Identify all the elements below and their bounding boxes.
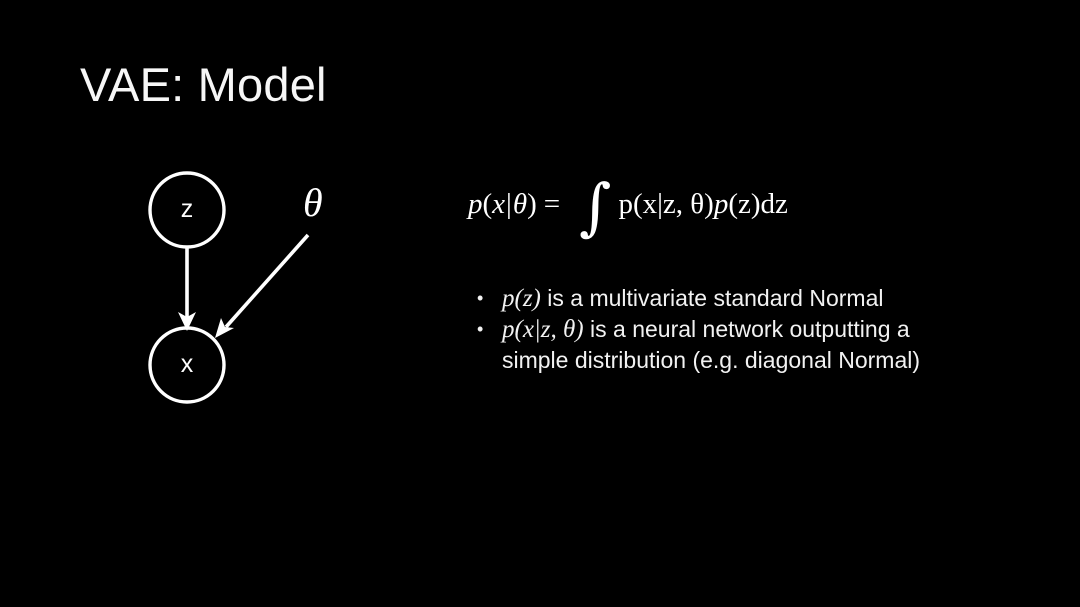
equation-rhs-prior-p: p [714, 190, 729, 219]
bullet-list: • p(z) is a multivariate standard Normal… [470, 283, 970, 376]
bullet-marker-icon: • [477, 283, 483, 314]
integral-icon: ∫ [579, 188, 611, 225]
graphical-model-diagram: z x θ [120, 155, 380, 425]
bullet-math-likelihood: p(x|z, θ) [502, 316, 584, 343]
equation-lhs-p: p [468, 190, 483, 219]
equation-rhs-differential: dz [761, 190, 788, 219]
model-equation: p(x|θ)=∫p(x|z, θ)p(z)dz [468, 186, 788, 223]
edge-line-theta-to-x [226, 235, 308, 327]
parameter-label-theta: θ [303, 183, 323, 223]
page-title: VAE: Model [80, 59, 327, 111]
equation-rhs-prior-arg: (z) [728, 190, 760, 219]
equation-lhs-open-paren: ( [483, 190, 493, 219]
equation-lhs-theta: θ [513, 190, 527, 219]
diagram-svg [120, 155, 380, 425]
list-item: • p(x|z, θ) is a neural network outputti… [470, 314, 970, 376]
equation-lhs-close-paren: ) [527, 190, 537, 219]
equation-lhs-bar: | [505, 190, 513, 219]
equation-lhs-x: x [492, 190, 505, 219]
equation-rhs-likelihood: p(x|z, θ) [618, 190, 713, 219]
bullet-marker-icon: • [477, 314, 483, 345]
slide-canvas: VAE: Model z x θ p(x|θ)=∫p(x|z, θ)p(z)dz… [0, 0, 1080, 607]
node-label-z: z [167, 197, 207, 222]
bullet-text-prior: is a multivariate standard Normal [541, 285, 884, 311]
equation-equals-sign: = [544, 190, 560, 219]
node-label-x: x [167, 352, 207, 377]
list-item: • p(z) is a multivariate standard Normal [470, 283, 970, 314]
bullet-math-prior: p(z) [502, 285, 541, 312]
